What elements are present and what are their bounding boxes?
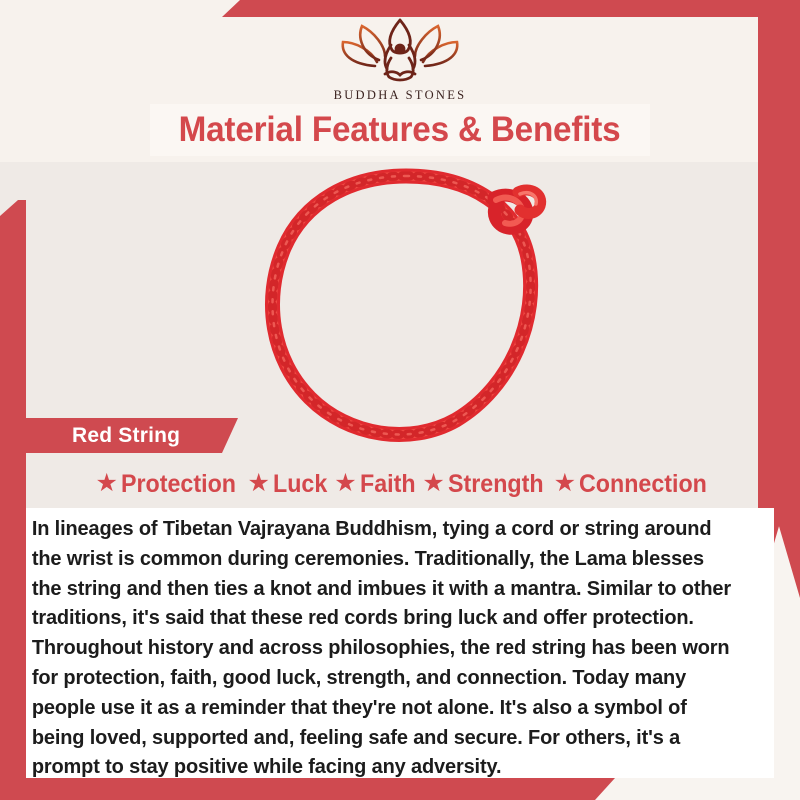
benefit-item: ★ Luck (248, 470, 332, 499)
page-title-banner: Material Features & Benefits (150, 104, 650, 156)
benefit-label: Connection (579, 470, 707, 499)
brand-wordmark: BUDDHA STONES (0, 88, 800, 103)
star-icon: ★ (334, 471, 356, 496)
benefit-item: ★ Connection (554, 470, 717, 499)
star-icon: ★ (422, 471, 444, 496)
benefit-label: Luck (273, 470, 327, 499)
benefits-list: ★ Protection ★ Luck ★ Faith ★ Strength ★… (26, 466, 786, 502)
star-icon: ★ (95, 471, 117, 496)
star-icon: ★ (554, 471, 576, 496)
benefit-item: ★ Protection (95, 470, 244, 499)
description-text: In lineages of Tibetan Vajrayana Buddhis… (26, 514, 752, 782)
benefit-label: Faith (360, 470, 416, 499)
benefit-item: ★ Strength (422, 470, 550, 499)
product-name-banner: Red String (26, 418, 238, 453)
benefit-item: ★ Faith (334, 470, 419, 499)
product-name: Red String (72, 424, 180, 448)
product-image-red-string-bracelet (210, 162, 600, 452)
benefit-label: Protection (121, 470, 236, 499)
decorative-left-red-bar (0, 200, 26, 780)
benefit-label: Strength (448, 470, 544, 499)
lotus-meditation-icon (335, 14, 465, 86)
infographic-poster: BUDDHA STONES Material Features & Benefi… (0, 0, 800, 800)
description-card: In lineages of Tibetan Vajrayana Buddhis… (26, 508, 774, 778)
brand-logo: BUDDHA STONES (0, 14, 800, 103)
page-title: Material Features & Benefits (179, 110, 621, 150)
star-icon: ★ (248, 471, 270, 496)
